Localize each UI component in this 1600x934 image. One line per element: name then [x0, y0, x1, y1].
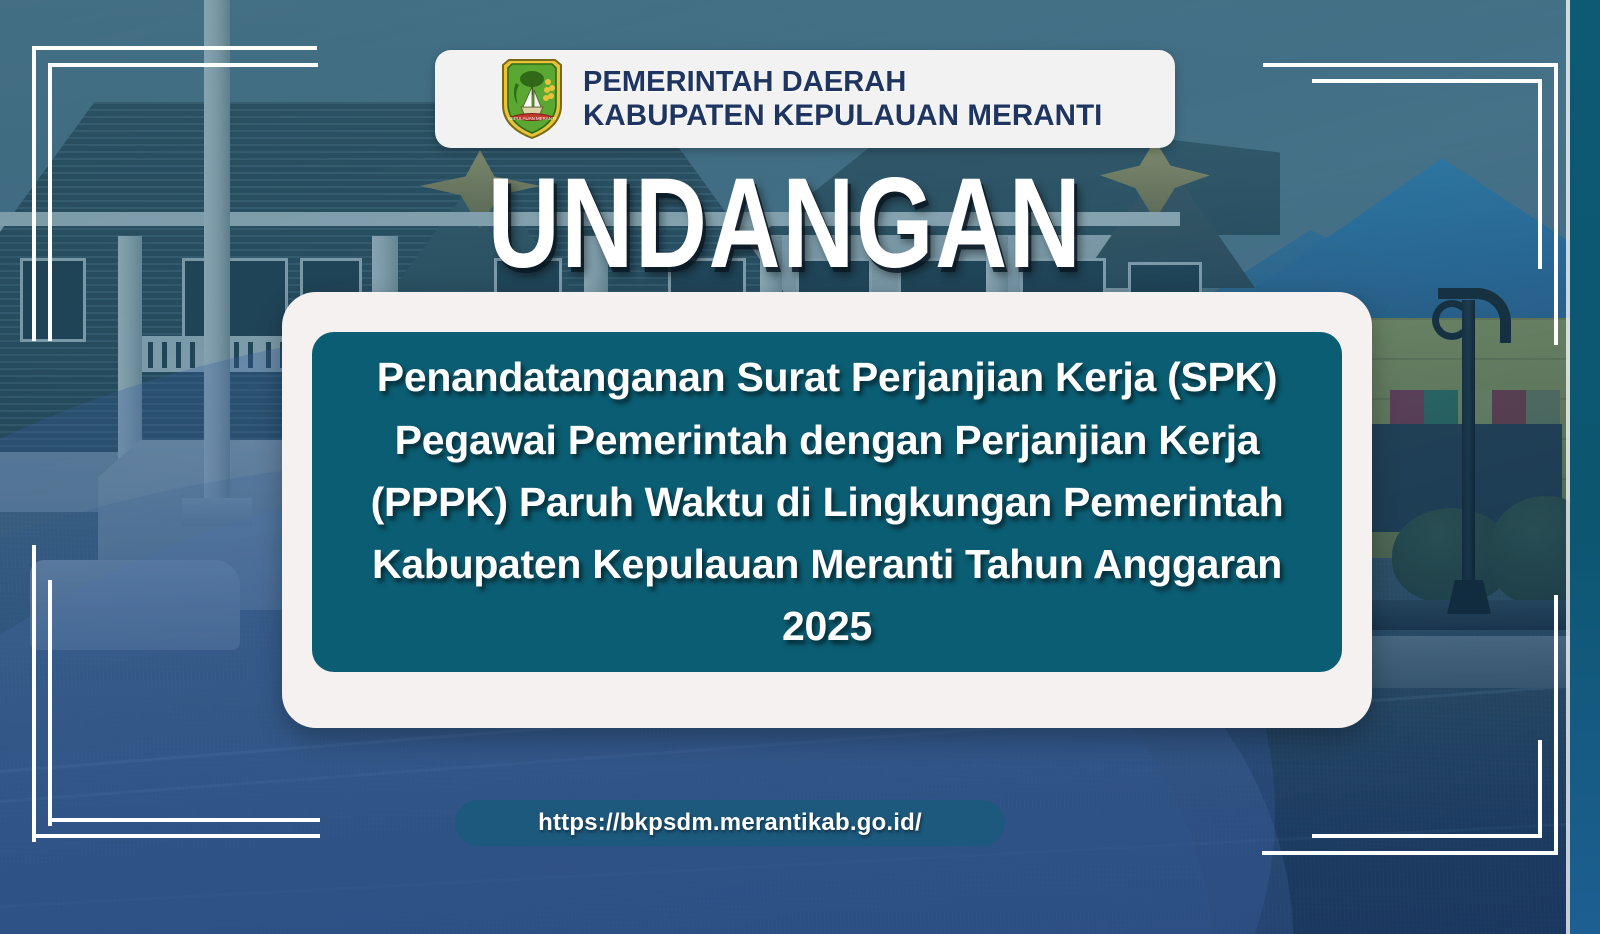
page-title: UNDANGAN: [173, 160, 1398, 288]
organization-line-2: KABUPATEN KEPULAUAN MERANTI: [583, 99, 1102, 133]
corner-frame-bottom-left: [32, 545, 36, 842]
corner-frame-bottom-right: [1538, 740, 1542, 838]
right-edge-strip: [1570, 0, 1600, 934]
corner-frame-top-right: [1312, 79, 1542, 83]
header-logo-bar: KEPULAUAN MERANTI PEMERINTAH DAERAH KABU…: [435, 50, 1175, 148]
organization-line-1: PEMERINTAH DAERAH: [583, 66, 1102, 99]
kabupaten-kepulauan-meranti-crest-icon: KEPULAUAN MERANTI: [499, 57, 565, 141]
corner-frame-bottom-left: [32, 834, 320, 838]
corner-frame-top-left: [32, 46, 36, 341]
corner-frame-top-right: [1263, 63, 1558, 67]
corner-frame-bottom-left: [48, 580, 52, 826]
corner-frame-top-left: [32, 46, 317, 50]
corner-frame-top-right: [1538, 79, 1542, 269]
organization-name: PEMERINTAH DAERAH KABUPATEN KEPULAUAN ME…: [583, 66, 1102, 133]
event-description-panel: Penandatanganan Surat Perjanjian Kerja (…: [312, 332, 1342, 672]
corner-frame-top-left: [48, 63, 318, 67]
corner-frame-bottom-right: [1554, 595, 1558, 855]
corner-frame-top-right: [1554, 63, 1558, 345]
corner-frame-bottom-left: [48, 818, 320, 822]
corner-frame-top-left: [48, 63, 52, 341]
corner-frame-bottom-right: [1312, 834, 1542, 838]
corner-frame-bottom-right: [1262, 851, 1558, 855]
svg-text:KEPULAUAN MERANTI: KEPULAUAN MERANTI: [508, 116, 556, 121]
website-url-text[interactable]: https://bkpsdm.merantikab.go.id/: [538, 809, 922, 837]
website-url-pill[interactable]: https://bkpsdm.merantikab.go.id/: [455, 800, 1005, 846]
event-description-text: Penandatanganan Surat Perjanjian Kerja (…: [330, 346, 1324, 658]
poster-canvas: KEPULAUAN MERANTI PEMERINTAH DAERAH KABU…: [0, 0, 1600, 934]
